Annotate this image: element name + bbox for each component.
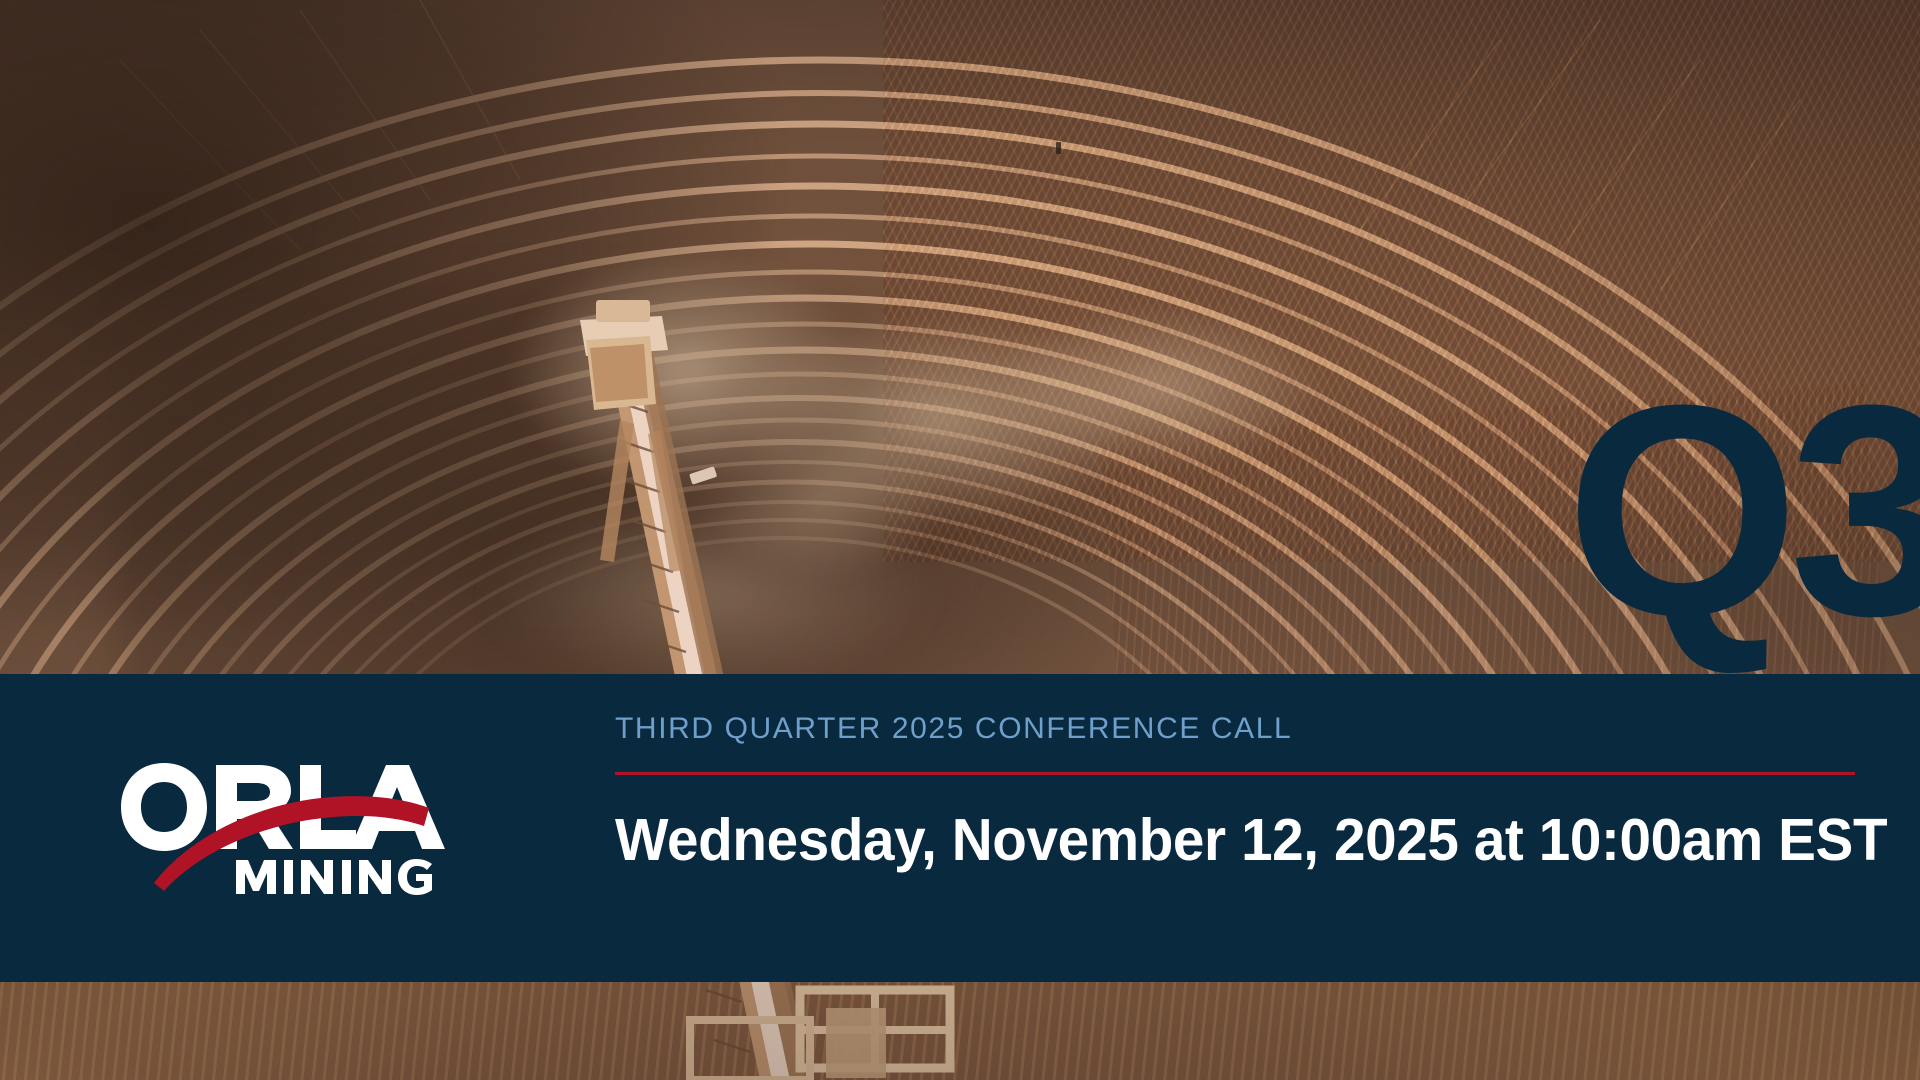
quarter-mark-q3: Q3	[1566, 360, 1920, 660]
eyebrow-label: THIRD QUARTER 2025 CONFERENCE CALL	[615, 712, 1860, 745]
logo-artwork	[118, 760, 448, 895]
orla-mining-logo[interactable]	[118, 760, 448, 895]
headline-date: Wednesday, November 12, 2025 at 10:00am …	[615, 807, 1810, 873]
red-divider-rule	[615, 772, 1855, 775]
banner-canvas: Q3	[0, 0, 1920, 1080]
banner-copy: THIRD QUARTER 2025 CONFERENCE CALL Wedne…	[615, 712, 1860, 873]
